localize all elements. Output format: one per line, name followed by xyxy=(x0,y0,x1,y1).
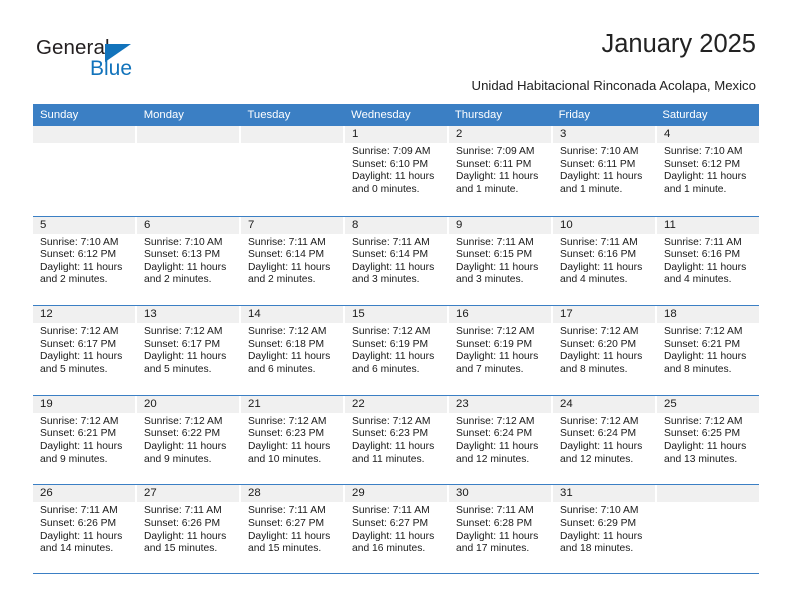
page-title: January 2025 xyxy=(601,30,756,59)
sunset-time: Sunset: 6:17 PM xyxy=(144,339,234,352)
daylight-line-1: Daylight: 11 hours xyxy=(664,351,754,364)
sunrise-time: Sunrise: 7:11 AM xyxy=(456,505,546,518)
day-details: Sunrise: 7:09 AMSunset: 6:10 PMDaylight:… xyxy=(345,143,447,196)
sunrise-time: Sunrise: 7:12 AM xyxy=(456,416,546,429)
day-cell[interactable]: 8Sunrise: 7:11 AMSunset: 6:14 PMDaylight… xyxy=(345,217,449,306)
daylight-line-2: and 3 minutes. xyxy=(352,274,442,287)
day-cell[interactable]: 12Sunrise: 7:12 AMSunset: 6:17 PMDayligh… xyxy=(33,306,137,395)
sunrise-time: Sunrise: 7:10 AM xyxy=(560,146,650,159)
weekday-header-row: Sunday Monday Tuesday Wednesday Thursday… xyxy=(33,104,759,126)
daylight-line-1: Daylight: 11 hours xyxy=(664,171,754,184)
sunset-time: Sunset: 6:21 PM xyxy=(40,428,130,441)
day-cell[interactable]: 10Sunrise: 7:11 AMSunset: 6:16 PMDayligh… xyxy=(553,217,657,306)
day-number: 26 xyxy=(33,485,135,502)
daylight-line-1: Daylight: 11 hours xyxy=(456,262,546,275)
day-cell[interactable]: 16Sunrise: 7:12 AMSunset: 6:19 PMDayligh… xyxy=(449,306,553,395)
day-number: 17 xyxy=(553,306,655,323)
day-number: 19 xyxy=(33,396,135,413)
weekday-sunday: Sunday xyxy=(33,104,137,126)
day-cell[interactable]: 6Sunrise: 7:10 AMSunset: 6:13 PMDaylight… xyxy=(137,217,241,306)
day-details: Sunrise: 7:10 AMSunset: 6:13 PMDaylight:… xyxy=(137,234,239,287)
day-details: Sunrise: 7:12 AMSunset: 6:21 PMDaylight:… xyxy=(33,413,135,466)
daylight-line-2: and 4 minutes. xyxy=(664,274,754,287)
day-cell-empty xyxy=(137,126,241,216)
day-number: 22 xyxy=(345,396,447,413)
weekday-thursday: Thursday xyxy=(448,104,552,126)
day-cell[interactable]: 14Sunrise: 7:12 AMSunset: 6:18 PMDayligh… xyxy=(241,306,345,395)
day-details: Sunrise: 7:11 AMSunset: 6:14 PMDaylight:… xyxy=(345,234,447,287)
day-number: 2 xyxy=(449,126,551,143)
sunset-time: Sunset: 6:26 PM xyxy=(40,518,130,531)
sunset-time: Sunset: 6:19 PM xyxy=(456,339,546,352)
sunrise-time: Sunrise: 7:10 AM xyxy=(664,146,754,159)
daylight-line-1: Daylight: 11 hours xyxy=(664,262,754,275)
day-number xyxy=(241,126,343,143)
day-details: Sunrise: 7:12 AMSunset: 6:25 PMDaylight:… xyxy=(657,413,759,466)
day-details: Sunrise: 7:11 AMSunset: 6:16 PMDaylight:… xyxy=(553,234,655,287)
day-number: 27 xyxy=(137,485,239,502)
daylight-line-2: and 6 minutes. xyxy=(248,364,338,377)
sunset-time: Sunset: 6:20 PM xyxy=(560,339,650,352)
sunrise-time: Sunrise: 7:12 AM xyxy=(560,326,650,339)
daylight-line-2: and 14 minutes. xyxy=(40,543,130,556)
daylight-line-2: and 15 minutes. xyxy=(144,543,234,556)
weekday-tuesday: Tuesday xyxy=(240,104,344,126)
day-cell[interactable]: 15Sunrise: 7:12 AMSunset: 6:19 PMDayligh… xyxy=(345,306,449,395)
sunset-time: Sunset: 6:23 PM xyxy=(352,428,442,441)
daylight-line-1: Daylight: 11 hours xyxy=(560,351,650,364)
daylight-line-1: Daylight: 11 hours xyxy=(248,262,338,275)
day-cell[interactable]: 9Sunrise: 7:11 AMSunset: 6:15 PMDaylight… xyxy=(449,217,553,306)
sunrise-time: Sunrise: 7:10 AM xyxy=(560,505,650,518)
day-details: Sunrise: 7:12 AMSunset: 6:19 PMDaylight:… xyxy=(449,323,551,376)
daylight-line-1: Daylight: 11 hours xyxy=(456,171,546,184)
day-cell[interactable]: 24Sunrise: 7:12 AMSunset: 6:24 PMDayligh… xyxy=(553,396,657,485)
daylight-line-2: and 5 minutes. xyxy=(144,364,234,377)
day-number: 28 xyxy=(241,485,343,502)
calendar-week-row: 26Sunrise: 7:11 AMSunset: 6:26 PMDayligh… xyxy=(33,484,759,574)
daylight-line-2: and 2 minutes. xyxy=(248,274,338,287)
sunrise-time: Sunrise: 7:11 AM xyxy=(560,237,650,250)
day-number: 20 xyxy=(137,396,239,413)
sunset-time: Sunset: 6:12 PM xyxy=(40,249,130,262)
daylight-line-2: and 8 minutes. xyxy=(664,364,754,377)
day-details: Sunrise: 7:12 AMSunset: 6:19 PMDaylight:… xyxy=(345,323,447,376)
daylight-line-2: and 10 minutes. xyxy=(248,454,338,467)
calendar-week-row: 19Sunrise: 7:12 AMSunset: 6:21 PMDayligh… xyxy=(33,395,759,485)
sunset-time: Sunset: 6:27 PM xyxy=(248,518,338,531)
day-cell[interactable]: 26Sunrise: 7:11 AMSunset: 6:26 PMDayligh… xyxy=(33,485,137,573)
day-number xyxy=(657,485,759,502)
day-number: 5 xyxy=(33,217,135,234)
day-details: Sunrise: 7:10 AMSunset: 6:11 PMDaylight:… xyxy=(553,143,655,196)
sunrise-time: Sunrise: 7:12 AM xyxy=(144,416,234,429)
daylight-line-1: Daylight: 11 hours xyxy=(352,531,442,544)
sunset-time: Sunset: 6:10 PM xyxy=(352,159,442,172)
sunrise-time: Sunrise: 7:11 AM xyxy=(248,237,338,250)
day-number: 6 xyxy=(137,217,239,234)
day-cell-empty xyxy=(33,126,137,216)
day-number xyxy=(137,126,239,143)
daylight-line-1: Daylight: 11 hours xyxy=(40,531,130,544)
daylight-line-2: and 7 minutes. xyxy=(456,364,546,377)
day-number: 24 xyxy=(553,396,655,413)
weekday-friday: Friday xyxy=(552,104,656,126)
day-cell[interactable]: 7Sunrise: 7:11 AMSunset: 6:14 PMDaylight… xyxy=(241,217,345,306)
day-cell[interactable]: 18Sunrise: 7:12 AMSunset: 6:21 PMDayligh… xyxy=(657,306,759,395)
day-details: Sunrise: 7:12 AMSunset: 6:23 PMDaylight:… xyxy=(345,413,447,466)
day-number: 7 xyxy=(241,217,343,234)
day-number: 30 xyxy=(449,485,551,502)
sunset-time: Sunset: 6:28 PM xyxy=(456,518,546,531)
sunset-time: Sunset: 6:19 PM xyxy=(352,339,442,352)
sunrise-time: Sunrise: 7:10 AM xyxy=(144,237,234,250)
sunrise-time: Sunrise: 7:12 AM xyxy=(560,416,650,429)
day-cell[interactable]: 4Sunrise: 7:10 AMSunset: 6:12 PMDaylight… xyxy=(657,126,759,216)
sunrise-time: Sunrise: 7:12 AM xyxy=(144,326,234,339)
daylight-line-1: Daylight: 11 hours xyxy=(352,351,442,364)
day-number: 15 xyxy=(345,306,447,323)
daylight-line-1: Daylight: 11 hours xyxy=(144,262,234,275)
day-cell[interactable]: 11Sunrise: 7:11 AMSunset: 6:16 PMDayligh… xyxy=(657,217,759,306)
day-number: 3 xyxy=(553,126,655,143)
day-number: 9 xyxy=(449,217,551,234)
sunset-time: Sunset: 6:21 PM xyxy=(664,339,754,352)
sunset-time: Sunset: 6:24 PM xyxy=(456,428,546,441)
day-number: 12 xyxy=(33,306,135,323)
daylight-line-1: Daylight: 11 hours xyxy=(456,531,546,544)
day-details: Sunrise: 7:11 AMSunset: 6:27 PMDaylight:… xyxy=(345,502,447,555)
sunrise-time: Sunrise: 7:12 AM xyxy=(352,326,442,339)
daylight-line-1: Daylight: 11 hours xyxy=(352,262,442,275)
day-number: 8 xyxy=(345,217,447,234)
sunrise-time: Sunrise: 7:11 AM xyxy=(456,237,546,250)
daylight-line-1: Daylight: 11 hours xyxy=(456,441,546,454)
day-cell[interactable]: 21Sunrise: 7:12 AMSunset: 6:23 PMDayligh… xyxy=(241,396,345,485)
sunrise-time: Sunrise: 7:11 AM xyxy=(40,505,130,518)
daylight-line-1: Daylight: 11 hours xyxy=(456,351,546,364)
sunset-time: Sunset: 6:16 PM xyxy=(664,249,754,262)
calendar-weeks: 1Sunrise: 7:09 AMSunset: 6:10 PMDaylight… xyxy=(33,126,759,574)
day-number: 23 xyxy=(449,396,551,413)
day-details: Sunrise: 7:11 AMSunset: 6:26 PMDaylight:… xyxy=(137,502,239,555)
sunrise-time: Sunrise: 7:11 AM xyxy=(352,237,442,250)
day-details: Sunrise: 7:12 AMSunset: 6:18 PMDaylight:… xyxy=(241,323,343,376)
day-cell[interactable]: 3Sunrise: 7:10 AMSunset: 6:11 PMDaylight… xyxy=(553,126,657,216)
sunset-time: Sunset: 6:12 PM xyxy=(664,159,754,172)
daylight-line-2: and 12 minutes. xyxy=(456,454,546,467)
sunset-time: Sunset: 6:22 PM xyxy=(144,428,234,441)
sunset-time: Sunset: 6:14 PM xyxy=(248,249,338,262)
sunset-time: Sunset: 6:26 PM xyxy=(144,518,234,531)
daylight-line-1: Daylight: 11 hours xyxy=(144,531,234,544)
daylight-line-1: Daylight: 11 hours xyxy=(560,531,650,544)
sunset-time: Sunset: 6:15 PM xyxy=(456,249,546,262)
day-details: Sunrise: 7:11 AMSunset: 6:26 PMDaylight:… xyxy=(33,502,135,555)
day-cell[interactable]: 17Sunrise: 7:12 AMSunset: 6:20 PMDayligh… xyxy=(553,306,657,395)
sunrise-time: Sunrise: 7:12 AM xyxy=(352,416,442,429)
calendar-page: General Blue January 2025 Unidad Habitac… xyxy=(0,0,792,612)
day-cell[interactable]: 27Sunrise: 7:11 AMSunset: 6:26 PMDayligh… xyxy=(137,485,241,573)
sunrise-time: Sunrise: 7:12 AM xyxy=(664,326,754,339)
day-details: Sunrise: 7:11 AMSunset: 6:14 PMDaylight:… xyxy=(241,234,343,287)
daylight-line-1: Daylight: 11 hours xyxy=(40,351,130,364)
daylight-line-2: and 3 minutes. xyxy=(456,274,546,287)
day-details: Sunrise: 7:11 AMSunset: 6:16 PMDaylight:… xyxy=(657,234,759,287)
sunrise-time: Sunrise: 7:10 AM xyxy=(40,237,130,250)
day-number: 14 xyxy=(241,306,343,323)
calendar-week-row: 12Sunrise: 7:12 AMSunset: 6:17 PMDayligh… xyxy=(33,305,759,395)
sunset-time: Sunset: 6:23 PM xyxy=(248,428,338,441)
daylight-line-1: Daylight: 11 hours xyxy=(40,441,130,454)
day-number: 25 xyxy=(657,396,759,413)
daylight-line-2: and 6 minutes. xyxy=(352,364,442,377)
daylight-line-2: and 16 minutes. xyxy=(352,543,442,556)
day-details: Sunrise: 7:09 AMSunset: 6:11 PMDaylight:… xyxy=(449,143,551,196)
day-details: Sunrise: 7:12 AMSunset: 6:22 PMDaylight:… xyxy=(137,413,239,466)
daylight-line-2: and 8 minutes. xyxy=(560,364,650,377)
daylight-line-1: Daylight: 11 hours xyxy=(248,531,338,544)
day-number: 13 xyxy=(137,306,239,323)
day-cell[interactable]: 29Sunrise: 7:11 AMSunset: 6:27 PMDayligh… xyxy=(345,485,449,573)
daylight-line-1: Daylight: 11 hours xyxy=(144,441,234,454)
day-cell[interactable]: 5Sunrise: 7:10 AMSunset: 6:12 PMDaylight… xyxy=(33,217,137,306)
daylight-line-2: and 2 minutes. xyxy=(40,274,130,287)
day-details: Sunrise: 7:12 AMSunset: 6:20 PMDaylight:… xyxy=(553,323,655,376)
page-subtitle: Unidad Habitacional Rinconada Acolapa, M… xyxy=(472,78,756,93)
day-number: 4 xyxy=(657,126,759,143)
sunset-time: Sunset: 6:25 PM xyxy=(664,428,754,441)
daylight-line-1: Daylight: 11 hours xyxy=(560,171,650,184)
sunrise-time: Sunrise: 7:12 AM xyxy=(40,416,130,429)
daylight-line-2: and 17 minutes. xyxy=(456,543,546,556)
daylight-line-1: Daylight: 11 hours xyxy=(40,262,130,275)
sunrise-time: Sunrise: 7:09 AM xyxy=(352,146,442,159)
sunrise-time: Sunrise: 7:12 AM xyxy=(456,326,546,339)
day-number: 29 xyxy=(345,485,447,502)
day-details: Sunrise: 7:12 AMSunset: 6:24 PMDaylight:… xyxy=(449,413,551,466)
day-cell[interactable]: 2Sunrise: 7:09 AMSunset: 6:11 PMDaylight… xyxy=(449,126,553,216)
day-cell[interactable]: 23Sunrise: 7:12 AMSunset: 6:24 PMDayligh… xyxy=(449,396,553,485)
sunrise-time: Sunrise: 7:11 AM xyxy=(248,505,338,518)
day-details: Sunrise: 7:12 AMSunset: 6:17 PMDaylight:… xyxy=(137,323,239,376)
sunset-time: Sunset: 6:11 PM xyxy=(560,159,650,172)
daylight-line-2: and 9 minutes. xyxy=(40,454,130,467)
sunset-time: Sunset: 6:13 PM xyxy=(144,249,234,262)
daylight-line-1: Daylight: 11 hours xyxy=(248,441,338,454)
day-cell[interactable]: 19Sunrise: 7:12 AMSunset: 6:21 PMDayligh… xyxy=(33,396,137,485)
sunrise-time: Sunrise: 7:09 AM xyxy=(456,146,546,159)
day-cell[interactable]: 31Sunrise: 7:10 AMSunset: 6:29 PMDayligh… xyxy=(553,485,657,573)
daylight-line-2: and 5 minutes. xyxy=(40,364,130,377)
day-details: Sunrise: 7:11 AMSunset: 6:28 PMDaylight:… xyxy=(449,502,551,555)
sunset-time: Sunset: 6:14 PM xyxy=(352,249,442,262)
daylight-line-1: Daylight: 11 hours xyxy=(248,351,338,364)
day-details: Sunrise: 7:10 AMSunset: 6:12 PMDaylight:… xyxy=(657,143,759,196)
day-details: Sunrise: 7:12 AMSunset: 6:24 PMDaylight:… xyxy=(553,413,655,466)
sunrise-time: Sunrise: 7:11 AM xyxy=(664,237,754,250)
daylight-line-2: and 1 minute. xyxy=(664,184,754,197)
daylight-line-1: Daylight: 11 hours xyxy=(560,262,650,275)
sunset-time: Sunset: 6:27 PM xyxy=(352,518,442,531)
calendar-week-row: 5Sunrise: 7:10 AMSunset: 6:12 PMDaylight… xyxy=(33,216,759,306)
weekday-monday: Monday xyxy=(137,104,241,126)
daylight-line-2: and 4 minutes. xyxy=(560,274,650,287)
day-number: 16 xyxy=(449,306,551,323)
sunset-time: Sunset: 6:29 PM xyxy=(560,518,650,531)
daylight-line-2: and 2 minutes. xyxy=(144,274,234,287)
day-number: 18 xyxy=(657,306,759,323)
sunset-time: Sunset: 6:24 PM xyxy=(560,428,650,441)
daylight-line-2: and 13 minutes. xyxy=(664,454,754,467)
sunrise-time: Sunrise: 7:12 AM xyxy=(248,326,338,339)
sunset-time: Sunset: 6:17 PM xyxy=(40,339,130,352)
calendar-week-row: 1Sunrise: 7:09 AMSunset: 6:10 PMDaylight… xyxy=(33,126,759,216)
day-cell[interactable]: 30Sunrise: 7:11 AMSunset: 6:28 PMDayligh… xyxy=(449,485,553,573)
daylight-line-1: Daylight: 11 hours xyxy=(144,351,234,364)
day-number: 11 xyxy=(657,217,759,234)
calendar-grid: Sunday Monday Tuesday Wednesday Thursday… xyxy=(33,104,759,574)
day-details: Sunrise: 7:12 AMSunset: 6:23 PMDaylight:… xyxy=(241,413,343,466)
day-number: 10 xyxy=(553,217,655,234)
page-header: General Blue January 2025 Unidad Habitac… xyxy=(0,0,792,100)
logo-text-blue: Blue xyxy=(90,57,132,81)
weekday-wednesday: Wednesday xyxy=(344,104,448,126)
day-details: Sunrise: 7:12 AMSunset: 6:21 PMDaylight:… xyxy=(657,323,759,376)
sunrise-time: Sunrise: 7:11 AM xyxy=(144,505,234,518)
day-number xyxy=(33,126,135,143)
daylight-line-1: Daylight: 11 hours xyxy=(352,441,442,454)
sunset-time: Sunset: 6:16 PM xyxy=(560,249,650,262)
day-details: Sunrise: 7:11 AMSunset: 6:27 PMDaylight:… xyxy=(241,502,343,555)
day-cell[interactable]: 1Sunrise: 7:09 AMSunset: 6:10 PMDaylight… xyxy=(345,126,449,216)
day-cell[interactable]: 22Sunrise: 7:12 AMSunset: 6:23 PMDayligh… xyxy=(345,396,449,485)
daylight-line-2: and 15 minutes. xyxy=(248,543,338,556)
day-details: Sunrise: 7:11 AMSunset: 6:15 PMDaylight:… xyxy=(449,234,551,287)
daylight-line-2: and 9 minutes. xyxy=(144,454,234,467)
weekday-saturday: Saturday xyxy=(655,104,759,126)
day-number: 1 xyxy=(345,126,447,143)
daylight-line-2: and 1 minute. xyxy=(560,184,650,197)
sunset-time: Sunset: 6:18 PM xyxy=(248,339,338,352)
sunrise-time: Sunrise: 7:12 AM xyxy=(248,416,338,429)
sunset-time: Sunset: 6:11 PM xyxy=(456,159,546,172)
day-cell[interactable]: 13Sunrise: 7:12 AMSunset: 6:17 PMDayligh… xyxy=(137,306,241,395)
daylight-line-2: and 1 minute. xyxy=(456,184,546,197)
sunrise-time: Sunrise: 7:11 AM xyxy=(352,505,442,518)
daylight-line-1: Daylight: 11 hours xyxy=(352,171,442,184)
day-cell-empty xyxy=(241,126,345,216)
day-cell[interactable]: 20Sunrise: 7:12 AMSunset: 6:22 PMDayligh… xyxy=(137,396,241,485)
day-details: Sunrise: 7:10 AMSunset: 6:12 PMDaylight:… xyxy=(33,234,135,287)
daylight-line-2: and 11 minutes. xyxy=(352,454,442,467)
daylight-line-1: Daylight: 11 hours xyxy=(560,441,650,454)
day-cell[interactable]: 28Sunrise: 7:11 AMSunset: 6:27 PMDayligh… xyxy=(241,485,345,573)
general-blue-logo[interactable]: General Blue xyxy=(36,36,166,86)
day-cell-empty xyxy=(657,485,759,573)
day-details: Sunrise: 7:12 AMSunset: 6:17 PMDaylight:… xyxy=(33,323,135,376)
daylight-line-1: Daylight: 11 hours xyxy=(664,441,754,454)
day-cell[interactable]: 25Sunrise: 7:12 AMSunset: 6:25 PMDayligh… xyxy=(657,396,759,485)
day-number: 31 xyxy=(553,485,655,502)
daylight-line-2: and 12 minutes. xyxy=(560,454,650,467)
daylight-line-2: and 18 minutes. xyxy=(560,543,650,556)
daylight-line-2: and 0 minutes. xyxy=(352,184,442,197)
sunrise-time: Sunrise: 7:12 AM xyxy=(40,326,130,339)
day-number: 21 xyxy=(241,396,343,413)
sunrise-time: Sunrise: 7:12 AM xyxy=(664,416,754,429)
day-details: Sunrise: 7:10 AMSunset: 6:29 PMDaylight:… xyxy=(553,502,655,555)
